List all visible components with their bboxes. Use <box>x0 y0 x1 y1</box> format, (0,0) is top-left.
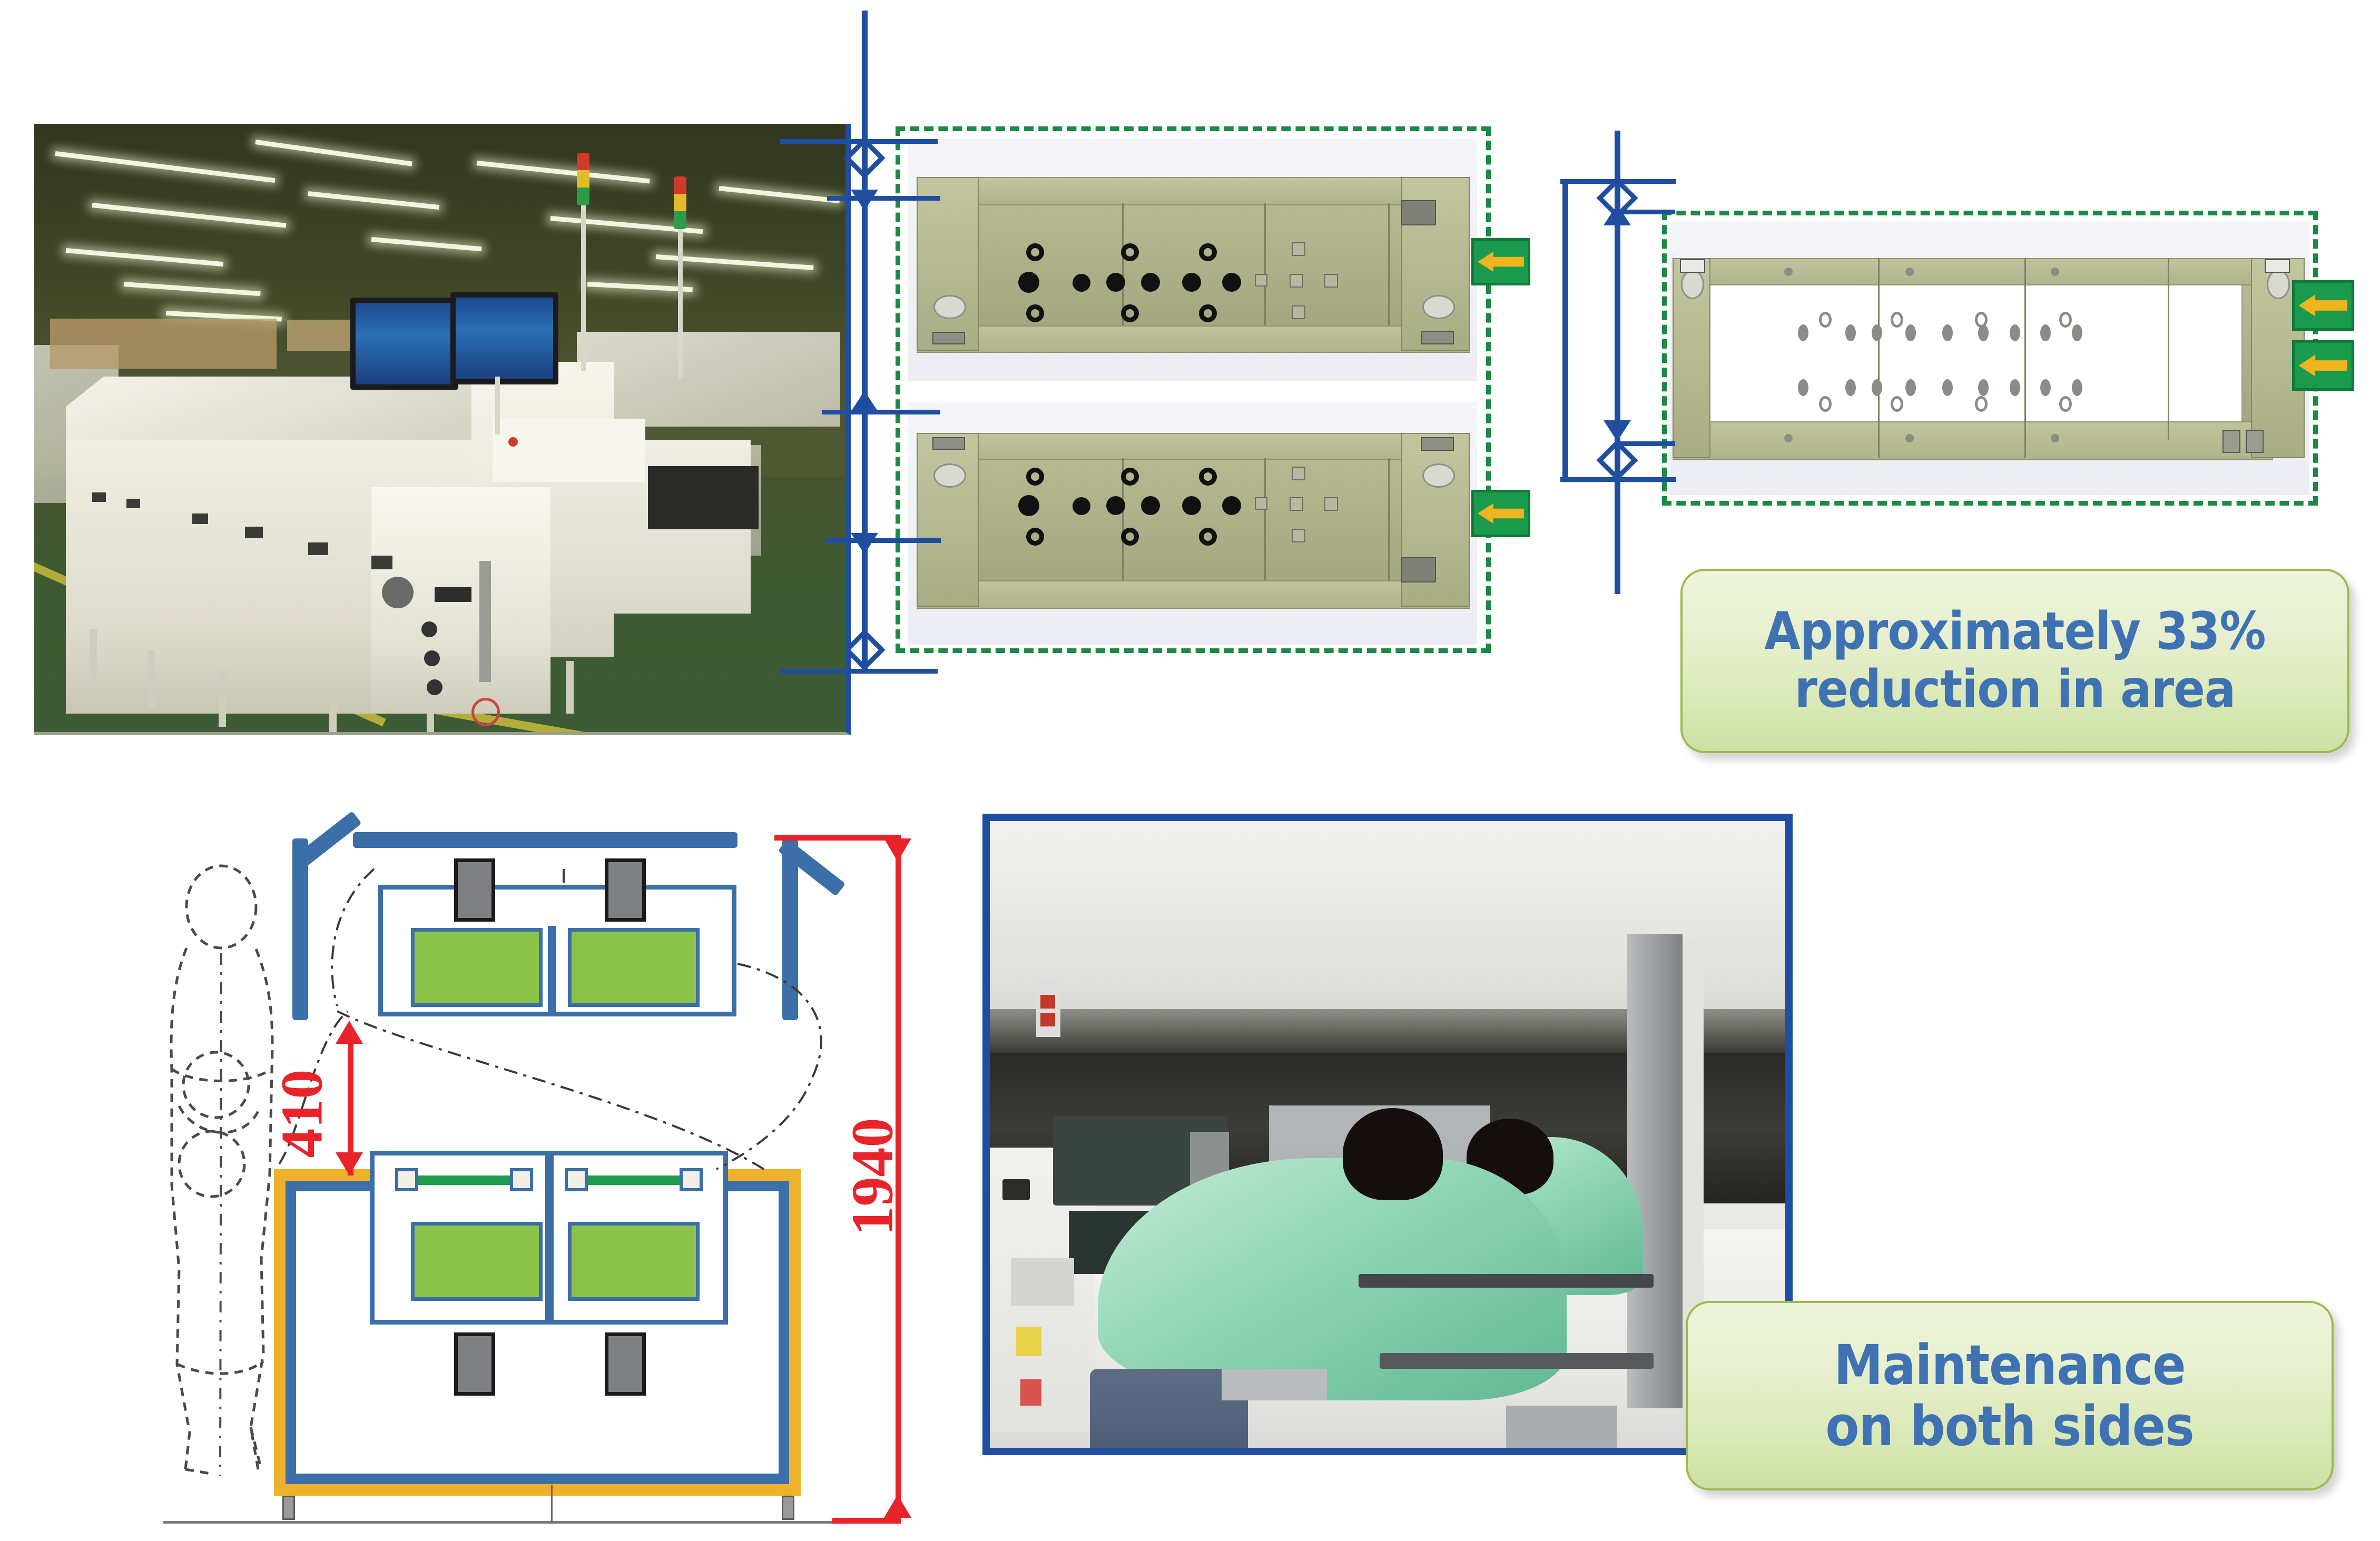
access-arrow-new-upper <box>2292 280 2354 331</box>
callout-maintenance: Maintenance on both sides <box>1686 1301 2334 1490</box>
callout-maintenance-line1: Maintenance <box>1825 1335 2194 1396</box>
cross-section-schematic: 410 1940 <box>126 806 980 1538</box>
access-arrow-top <box>1471 238 1530 285</box>
oven-monitor-right <box>450 292 558 384</box>
oven-monitor-left <box>350 298 458 390</box>
access-arrow-bottom <box>1471 490 1530 537</box>
signal-tower-lamp-1 <box>577 153 589 205</box>
callout-area-line2: reduction in area <box>1764 661 2265 719</box>
callout-area-line1: Approximately 33% <box>1764 603 2265 661</box>
callout-area-reduction: Approximately 33% reduction in area <box>1680 569 2349 753</box>
conventional-layout-cad <box>896 126 1491 653</box>
maintenance-photo <box>982 814 1793 1455</box>
callout-maintenance-line2: on both sides <box>1825 1396 2194 1457</box>
access-arrow-new-lower <box>2292 340 2354 391</box>
dimension-1940-label: 1940 <box>839 1118 907 1236</box>
new-layout-cad <box>1662 211 2318 506</box>
reflow-oven-photo <box>34 124 851 735</box>
signal-tower-lamp-2 <box>674 176 686 229</box>
dimension-410-label: 410 <box>269 1070 337 1158</box>
technician-near-head <box>1343 1108 1443 1200</box>
